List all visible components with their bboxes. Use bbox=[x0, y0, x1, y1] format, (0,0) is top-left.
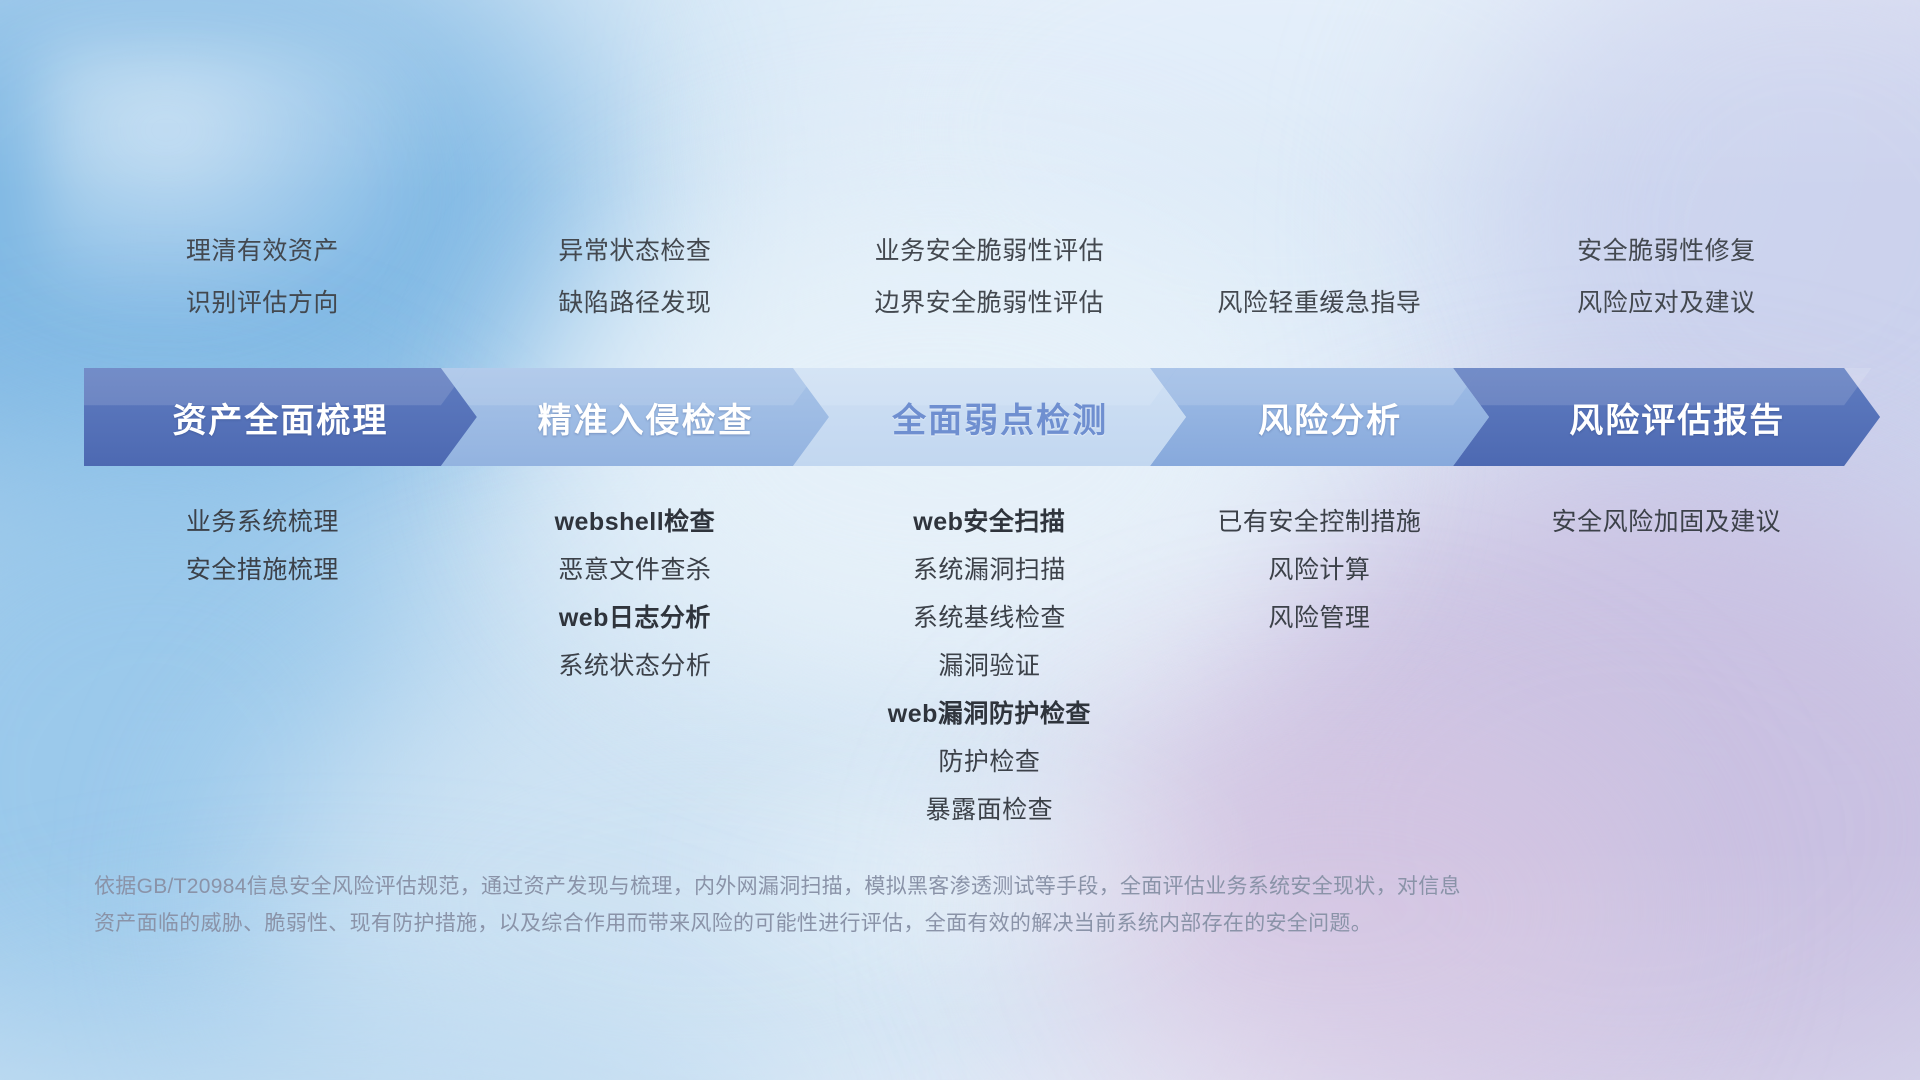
process-stage-risk-analysis[interactable]: 风险分析 bbox=[1150, 368, 1489, 466]
process-stage-asset-inventory[interactable]: 资产全面梳理 bbox=[84, 368, 477, 466]
stage-title: 资产全面梳理 bbox=[172, 393, 388, 442]
stage-item: 安全风险加固及建议 bbox=[1552, 498, 1782, 546]
stage-toplabels-intrusion-check: 异常状态检查缺陷路径发现 bbox=[558, 225, 711, 329]
stage-title: 风险分析 bbox=[1258, 393, 1402, 442]
stage-item: 风险计算 bbox=[1268, 546, 1370, 594]
stage-item: 业务系统梳理 bbox=[186, 498, 339, 546]
stage-item: web安全扫描 bbox=[913, 498, 1065, 546]
stage-item: 系统状态分析 bbox=[558, 642, 711, 690]
stage-item: web日志分析 bbox=[559, 594, 711, 642]
stage-item: 安全措施梳理 bbox=[186, 546, 339, 594]
stage-title: 风险评估报告 bbox=[1569, 393, 1785, 442]
stage-top-label: 缺陷路径发现 bbox=[558, 277, 711, 329]
footer-line-1: 依据GB/T20984信息安全风险评估规范，通过资产发现与梳理，内外网漏洞扫描，… bbox=[94, 868, 1614, 905]
stage-items-assessment-report: 安全风险加固及建议 bbox=[1552, 498, 1782, 546]
stage-top-label: 异常状态检查 bbox=[558, 225, 711, 277]
footer-line-2: 资产面临的威胁、脆弱性、现有防护措施，以及综合作用而带来风险的可能性进行评估，全… bbox=[94, 905, 1614, 942]
stage-toplabels-assessment-report: 安全脆弱性修复风险应对及建议 bbox=[1577, 225, 1756, 329]
process-stage-assessment-report[interactable]: 风险评估报告 bbox=[1453, 368, 1880, 466]
stage-item: 系统漏洞扫描 bbox=[913, 546, 1066, 594]
stage-item: 恶意文件查杀 bbox=[558, 546, 711, 594]
stage-top-label: 边界安全脆弱性评估 bbox=[875, 277, 1105, 329]
stage-item: 已有安全控制措施 bbox=[1217, 498, 1421, 546]
process-chevron-band: 资产全面梳理精准入侵检查全面弱点检测风险分析风险评估报告 bbox=[84, 368, 1844, 466]
stage-item: web漏洞防护检查 bbox=[888, 690, 1091, 738]
stage-top-label: 业务安全脆弱性评估 bbox=[875, 225, 1105, 277]
stage-item: 暴露面检查 bbox=[926, 786, 1054, 834]
stage-toplabels-risk-analysis: 风险轻重缓急指导 bbox=[1217, 277, 1421, 329]
process-stage-intrusion-check[interactable]: 精准入侵检查 bbox=[441, 368, 829, 466]
stage-top-label: 识别评估方向 bbox=[186, 277, 339, 329]
footer-description: 依据GB/T20984信息安全风险评估规范，通过资产发现与梳理，内外网漏洞扫描，… bbox=[94, 868, 1614, 942]
stage-item: 漏洞验证 bbox=[938, 642, 1040, 690]
stage-top-label: 安全脆弱性修复 bbox=[1577, 225, 1756, 277]
stage-toplabels-asset-inventory: 理清有效资产识别评估方向 bbox=[186, 225, 339, 329]
stage-top-label: 风险应对及建议 bbox=[1577, 277, 1756, 329]
stage-top-label: 风险轻重缓急指导 bbox=[1217, 277, 1421, 329]
stage-item: 防护检查 bbox=[938, 738, 1040, 786]
stage-item: 系统基线检查 bbox=[913, 594, 1066, 642]
stage-item: 风险管理 bbox=[1268, 594, 1370, 642]
stage-title: 精准入侵检查 bbox=[538, 393, 754, 442]
stage-items-asset-inventory: 业务系统梳理安全措施梳理 bbox=[186, 498, 339, 594]
stage-title: 全面弱点检测 bbox=[892, 393, 1108, 442]
stage-item: webshell检查 bbox=[555, 498, 716, 546]
process-stage-weakness-detection[interactable]: 全面弱点检测 bbox=[793, 368, 1186, 466]
stage-top-label: 理清有效资产 bbox=[186, 225, 339, 277]
stage-items-risk-analysis: 已有安全控制措施风险计算风险管理 bbox=[1217, 498, 1421, 642]
stage-toplabels-weakness-detection: 业务安全脆弱性评估边界安全脆弱性评估 bbox=[875, 225, 1105, 329]
stage-items-intrusion-check: webshell检查恶意文件查杀web日志分析系统状态分析 bbox=[555, 498, 716, 690]
stage-items-weakness-detection: web安全扫描系统漏洞扫描系统基线检查漏洞验证web漏洞防护检查防护检查暴露面检… bbox=[888, 498, 1091, 834]
